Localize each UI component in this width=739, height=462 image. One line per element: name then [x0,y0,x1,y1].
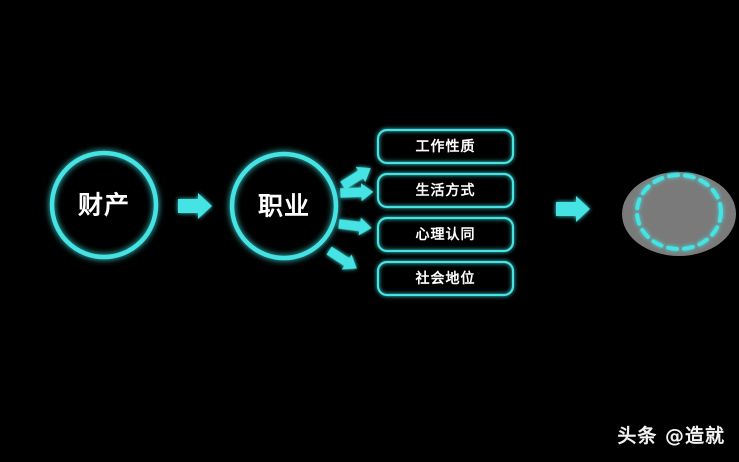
arrow-to-outcome [556,196,590,222]
outcome-gray-ellipse [622,172,736,256]
flow-diagram: 财产 职业 工作性质 生活方式 [0,0,739,462]
node-occupation[interactable]: 职业 [232,154,336,258]
arrow-fan-mid-lower [338,215,373,237]
box-psych-identity[interactable]: 心理认同 [378,218,513,251]
box-social-status[interactable]: 社会地位 [378,262,513,295]
box-work-nature[interactable]: 工作性质 [378,130,513,163]
watermark: 头条 @造就 [617,421,725,448]
node-property-label: 财产 [78,191,130,220]
box-lifestyle[interactable]: 生活方式 [378,174,513,207]
outcome-ellipse-group [622,172,736,256]
box-psych-identity-label: 心理认同 [416,226,476,243]
arrow-fan-down [324,243,361,276]
box-social-status-label: 社会地位 [415,270,476,287]
node-occupation-label: 职业 [258,192,310,221]
node-property[interactable]: 财产 [52,153,156,257]
arrow-property-to-occupation [178,193,212,219]
box-lifestyle-label: 生活方式 [416,182,476,199]
slide-canvas: 财产 职业 工作性质 生活方式 [0,0,739,462]
box-work-nature-label: 工作性质 [416,138,476,155]
